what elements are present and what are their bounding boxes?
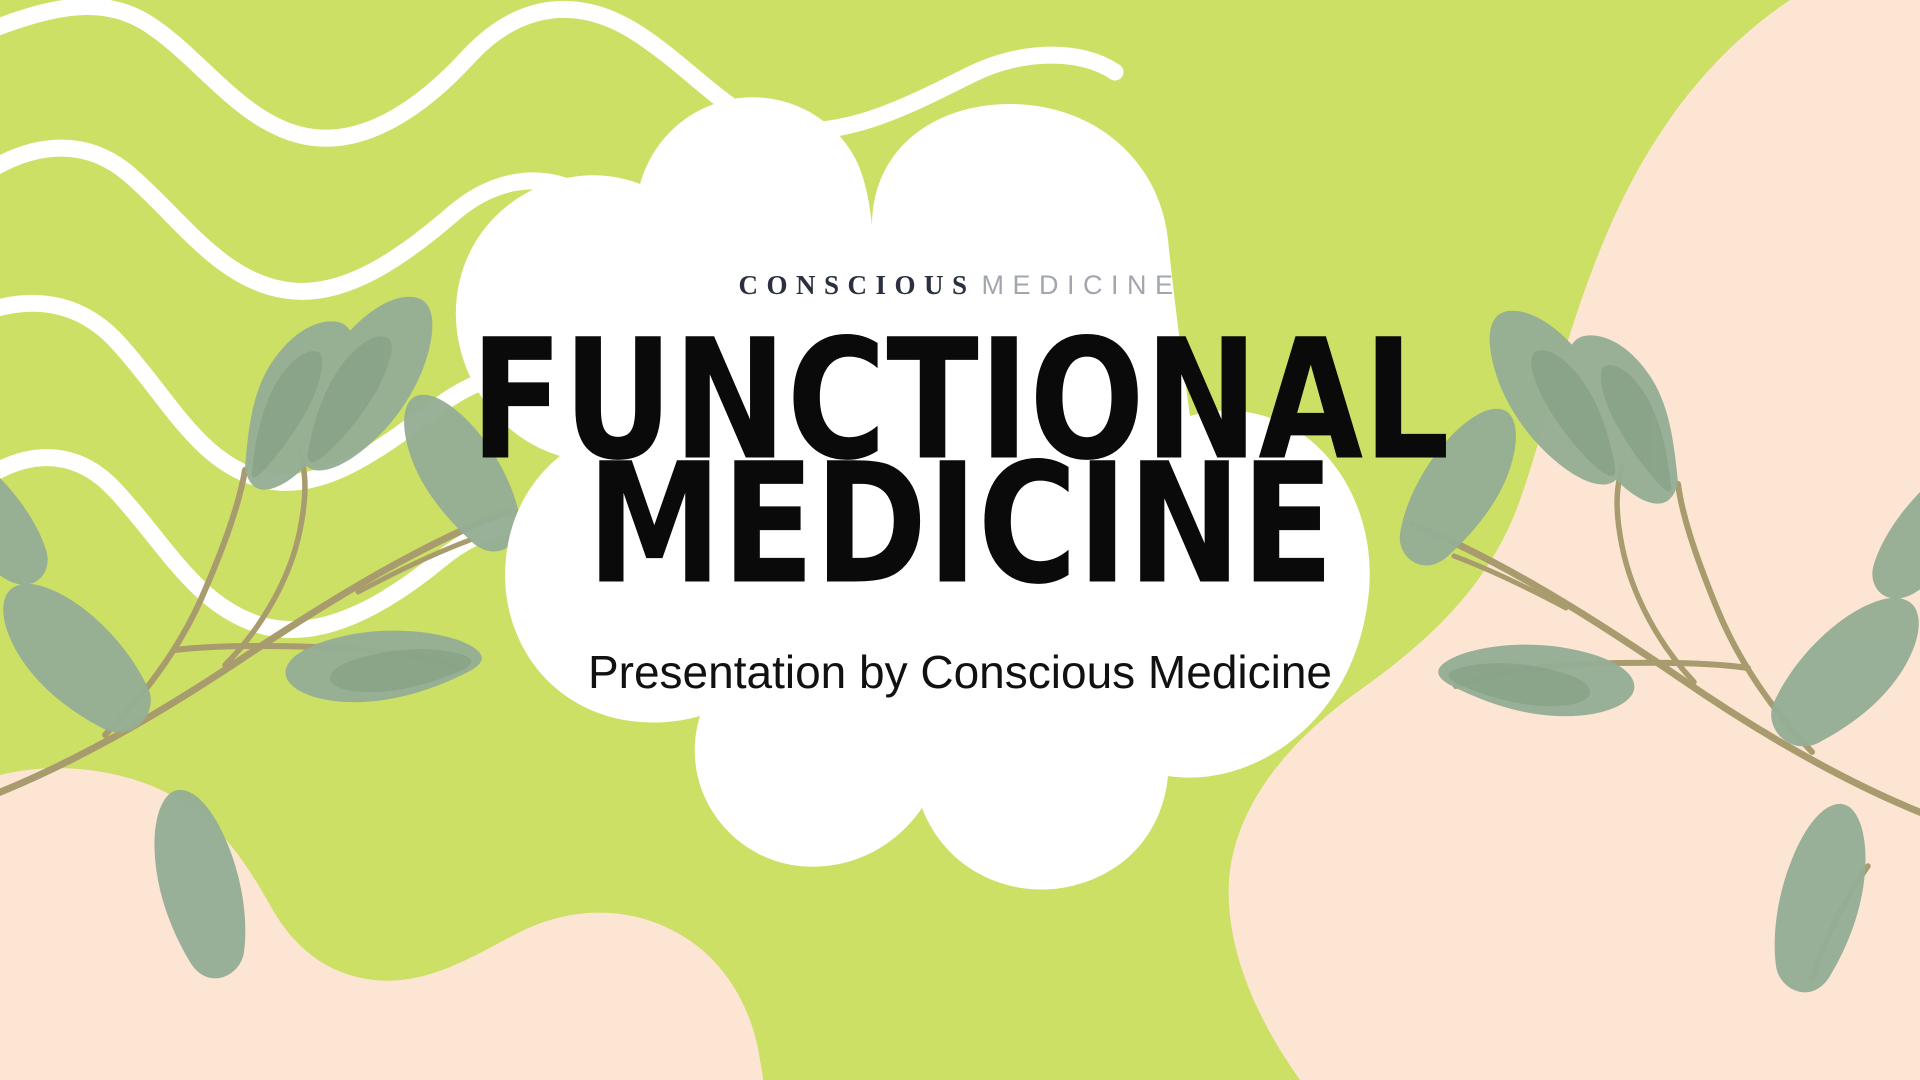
presentation-slide: CONSCIOUSMEDICINE FUNCTIONAL MEDICINE Pr…: [0, 0, 1920, 1080]
leaf-right-3: [1771, 598, 1919, 746]
right-branch-group: [1400, 311, 1920, 993]
stem-branch-right-d: [1454, 556, 1566, 608]
leaf-branch-right: [0, 0, 1920, 1080]
leaf-right-6: [1775, 804, 1866, 992]
leaf-right-5: [1400, 409, 1516, 566]
leaf-right-7: [1872, 455, 1920, 599]
